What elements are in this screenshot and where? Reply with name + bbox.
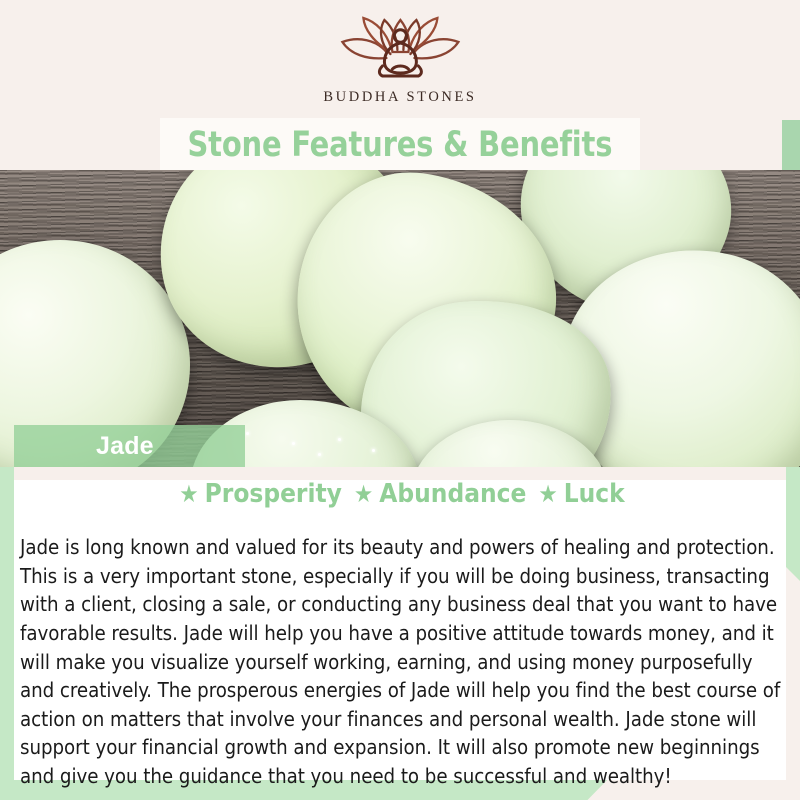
hero-photo bbox=[0, 170, 800, 467]
sparkle-highlight bbox=[246, 432, 249, 435]
brand-header: BUDDHA STONES bbox=[0, 0, 800, 120]
lotus-meditation-icon bbox=[330, 14, 470, 86]
star-icon: ★ bbox=[538, 480, 557, 508]
sparkle-highlight bbox=[292, 442, 295, 445]
page-title-band: Stone Features & Benefits bbox=[160, 118, 640, 172]
sparkle-highlight bbox=[372, 449, 375, 452]
brand-logo: BUDDHA STONES bbox=[323, 14, 476, 106]
keyword-luck: Luck bbox=[564, 479, 625, 509]
star-icon: ★ bbox=[179, 480, 198, 508]
stone-benefits-card: BUDDHA STONES Stone Features & Benefits … bbox=[0, 0, 800, 800]
stone-name-label: Jade bbox=[96, 432, 154, 461]
keyword-abundance: Abundance bbox=[379, 479, 526, 509]
keyword-prosperity: Prosperity bbox=[205, 479, 342, 509]
sparkle-highlight bbox=[318, 453, 321, 456]
brand-name: BUDDHA STONES bbox=[323, 89, 476, 106]
stone-description: Jade is long known and valued for its be… bbox=[20, 533, 788, 790]
content-panel: ★Prosperity★Abundance★Luck Jade is long … bbox=[14, 467, 786, 780]
page-title: Stone Features & Benefits bbox=[188, 125, 613, 165]
keyword-list: ★Prosperity★Abundance★Luck bbox=[14, 479, 786, 509]
star-icon: ★ bbox=[354, 480, 373, 508]
sparkle-highlight bbox=[338, 438, 341, 441]
stone-name-badge: Jade bbox=[14, 425, 245, 467]
